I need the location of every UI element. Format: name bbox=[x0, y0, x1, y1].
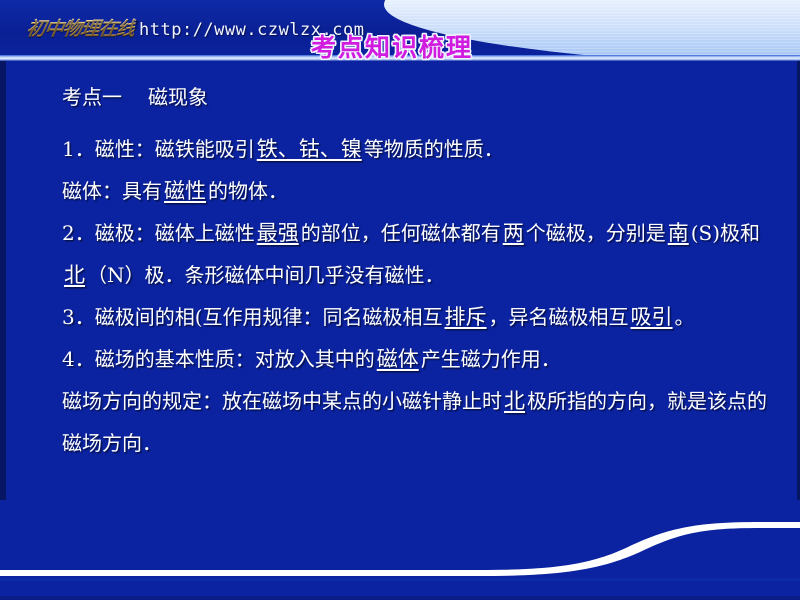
knowledge-point-number: 3． bbox=[62, 305, 95, 329]
body-text: 磁场方向的规定：放在磁场中某点的小磁针静止时 bbox=[62, 389, 502, 413]
body-text: 个磁极，分别是 bbox=[526, 221, 666, 245]
body-text: （N）极．条形磁体中间几乎没有磁性． bbox=[87, 263, 445, 287]
knowledge-point: 磁体：具有磁性的物体． bbox=[28, 170, 776, 212]
answer-blank-filled: 磁体 bbox=[375, 347, 421, 371]
knowledge-point-number: 4． bbox=[62, 347, 95, 371]
knowledge-point-number: 1． bbox=[62, 137, 95, 161]
body-text: 的部位，任何磁体都有 bbox=[301, 221, 501, 245]
body-text: (S)极和 bbox=[691, 221, 760, 245]
knowledge-point: 磁场方向的规定：放在磁场中某点的小磁针静止时北极所指的方向，就是该点的磁场方向． bbox=[28, 380, 776, 464]
body-text: 磁极间的相(互作用规律：同名磁极相互 bbox=[95, 305, 443, 329]
answer-blank-filled: 铁、钴、镍 bbox=[255, 137, 364, 161]
swoosh-graphic bbox=[0, 500, 800, 600]
answer-blank-filled: 北 bbox=[502, 389, 527, 413]
answer-blank-filled: 南 bbox=[666, 221, 691, 245]
knowledge-point-list: 1．磁性：磁铁能吸引铁、钴、镍等物质的性质．磁体：具有磁性的物体．2．磁极：磁体… bbox=[28, 128, 776, 464]
swoosh-under-line bbox=[0, 578, 800, 581]
knowledge-point: 1．磁性：磁铁能吸引铁、钴、镍等物质的性质． bbox=[28, 128, 776, 170]
answer-blank-filled: 最强 bbox=[255, 221, 301, 245]
knowledge-point: 4．磁场的基本性质：对放入其中的磁体产生磁力作用． bbox=[28, 338, 776, 380]
body-text: 磁体：具有 bbox=[62, 179, 162, 203]
site-logo-text: 初中物理在线 bbox=[25, 14, 137, 41]
page-title: 考点知识梳理 bbox=[311, 28, 473, 64]
answer-blank-filled: 北 bbox=[62, 263, 87, 287]
section-heading-topic: 磁现象 bbox=[148, 85, 208, 109]
bottom-swoosh-decoration bbox=[0, 500, 800, 600]
body-text: 产生磁力作用． bbox=[421, 347, 561, 371]
knowledge-point-number: 2． bbox=[62, 221, 95, 245]
body-text: 磁极：磁体上磁性 bbox=[95, 221, 255, 245]
body-text: 等物质的性质． bbox=[364, 137, 504, 161]
body-text: 。 bbox=[675, 305, 695, 329]
knowledge-point: 2．磁极：磁体上磁性最强的部位，任何磁体都有两个磁极，分别是南(S)极和北（N）… bbox=[28, 212, 776, 296]
section-heading-label: 考点一 bbox=[62, 85, 122, 109]
bottom-edge-band bbox=[0, 596, 800, 600]
answer-blank-filled: 排斥 bbox=[443, 305, 489, 329]
body-text: ，异名磁极相互 bbox=[489, 305, 629, 329]
answer-blank-filled: 吸引 bbox=[629, 305, 675, 329]
answer-blank-filled: 磁性 bbox=[162, 179, 208, 203]
body-text: 磁场的基本性质：对放入其中的 bbox=[95, 347, 375, 371]
slide-canvas: 初中物理在线 http://www.czwlzx.com 考点知识梳理 考点一磁… bbox=[0, 0, 800, 600]
body-text: 的物体． bbox=[208, 179, 288, 203]
answer-blank-filled: 两 bbox=[501, 221, 526, 245]
body-text: 磁性：磁铁能吸引 bbox=[95, 137, 255, 161]
section-heading: 考点一磁现象 bbox=[28, 76, 776, 118]
slide-body: 考点一磁现象 1．磁性：磁铁能吸引铁、钴、镍等物质的性质．磁体：具有磁性的物体．… bbox=[28, 76, 776, 464]
knowledge-point: 3．磁极间的相(互作用规律：同名磁极相互排斥，异名磁极相互吸引。 bbox=[28, 296, 776, 338]
